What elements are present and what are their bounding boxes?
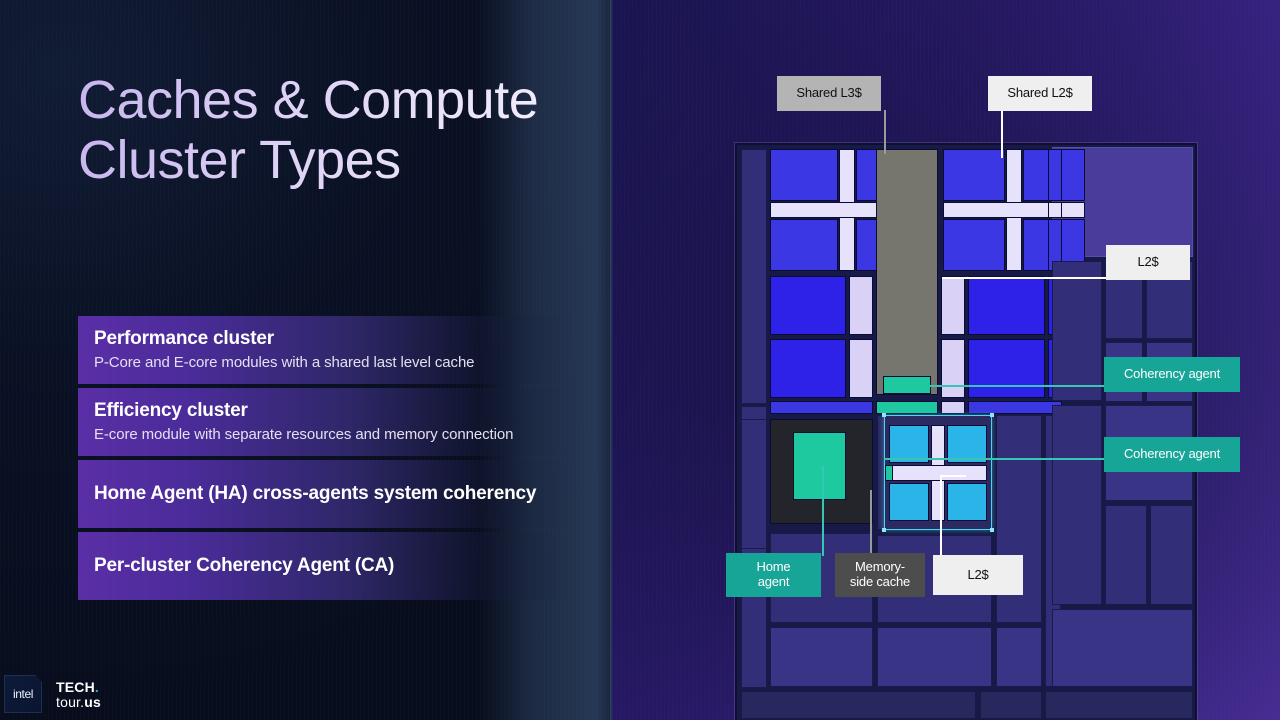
die-ecore-module — [770, 149, 838, 201]
callout-home-agent[interactable]: Home agent — [726, 553, 821, 597]
die-bus-cache — [941, 401, 965, 414]
selection-handle[interactable] — [882, 413, 886, 417]
list-item-heading: Efficiency cluster — [94, 400, 572, 423]
list-item[interactable]: Per-cluster Coherency Agent (CA) — [78, 532, 572, 600]
die-uncore-block — [770, 627, 873, 687]
techtour-line1: TECH. — [56, 680, 101, 694]
die-uncore-block — [1105, 505, 1147, 605]
list-item-heading: Performance cluster — [94, 328, 572, 351]
die-coherency-agent-strip — [883, 376, 931, 394]
techtour-dot-icon: . — [95, 679, 99, 695]
callout-shared-l3[interactable]: Shared L3$ — [777, 76, 881, 111]
die-bottom-row — [1045, 691, 1193, 719]
die-blue-rail-cache — [1048, 202, 1062, 218]
die-pcore — [770, 276, 846, 335]
selection-handle[interactable] — [882, 528, 886, 532]
die-cluster-bus — [770, 401, 873, 414]
die-ecluster-selection — [884, 415, 992, 530]
die-shared-l2-horizontal — [943, 202, 1085, 218]
die-home-agent — [793, 432, 846, 500]
callout-memory-side-cache[interactable]: Memory- side cache — [835, 553, 925, 597]
leader-l2-bottom-elbow — [940, 475, 966, 477]
selection-handle[interactable] — [990, 528, 994, 532]
die-pcore — [968, 339, 1045, 398]
techtour-us-text: us — [84, 694, 101, 710]
leader-coherency-2 — [884, 458, 1108, 460]
selection-handle[interactable] — [990, 413, 994, 417]
leader-l2-bottom — [940, 475, 942, 557]
leader-coherency-1 — [930, 385, 1108, 387]
die-bottom-row — [980, 691, 1042, 719]
techtour-tech-text: TECH — [56, 679, 95, 695]
list-item-heading: Home Agent (HA) cross-agents system cohe… — [94, 483, 572, 505]
die-uncore-block — [1052, 609, 1193, 687]
die-uncore-block — [741, 419, 767, 549]
die-shared-l3-cache — [876, 149, 938, 395]
techtour-line2: tour.us — [56, 695, 101, 709]
leader-memory-side-cache — [870, 490, 872, 556]
intel-logo: intel — [4, 675, 42, 713]
leader-home-agent — [822, 466, 824, 556]
die-uncore-block — [877, 627, 992, 687]
callout-shared-l2[interactable]: Shared L2$ — [988, 76, 1092, 111]
callout-coherency-agent-2[interactable]: Coherency agent — [1104, 437, 1240, 472]
die-cluster-bus — [968, 401, 1062, 414]
leader-shared-l2 — [1001, 110, 1003, 158]
list-item[interactable]: Efficiency cluster E-core module with se… — [78, 388, 572, 456]
die-ecore-module — [943, 149, 1005, 201]
die-ecore-module — [943, 219, 1005, 271]
list-item[interactable]: Performance cluster P-Core and E-core mo… — [78, 316, 572, 384]
techtour-tour-text: tour. — [56, 694, 84, 710]
die-pcore-l2 — [941, 276, 965, 335]
feature-list: Performance cluster P-Core and E-core mo… — [78, 316, 572, 604]
techtour-logo: TECH. tour.us — [56, 680, 101, 709]
leader-l2-right — [942, 277, 1110, 279]
list-item-subtext: E-core module with separate resources an… — [94, 426, 572, 444]
list-item[interactable]: Home Agent (HA) cross-agents system cohe… — [78, 460, 572, 528]
die-photo — [735, 143, 1197, 720]
die-pcore — [770, 339, 846, 398]
die-blue-rail — [1048, 149, 1062, 201]
logo-bar: intel TECH. tour.us — [0, 668, 148, 720]
list-item-heading: Per-cluster Coherency Agent (CA) — [94, 555, 572, 577]
die-pcore-l2 — [849, 339, 873, 398]
page-title: Caches & Compute Cluster Types — [78, 70, 548, 191]
callout-l2-right[interactable]: L2$ — [1106, 245, 1190, 280]
callout-coherency-agent-1[interactable]: Coherency agent — [1104, 357, 1240, 392]
die-uncore-block — [1150, 505, 1193, 605]
die-pcore-l2 — [849, 276, 873, 335]
die-pcore — [968, 276, 1045, 335]
background-divider — [610, 0, 613, 720]
die-uncore-block — [996, 627, 1042, 687]
die-ecore-module — [770, 219, 838, 271]
leader-shared-l3 — [884, 110, 886, 154]
slide-canvas: Caches & Compute Cluster Types Performan… — [0, 0, 1280, 720]
die-uncore-block — [1052, 405, 1102, 605]
list-item-subtext: P-Core and E-core modules with a shared … — [94, 354, 572, 372]
die-uncore-block — [1052, 261, 1102, 401]
intel-wordmark: intel — [13, 687, 33, 701]
callout-l2-bottom[interactable]: L2$ — [933, 555, 1023, 595]
die-io-rail-left — [741, 149, 767, 404]
die-pcore-l2 — [941, 339, 965, 398]
die-bottom-row — [741, 691, 976, 719]
